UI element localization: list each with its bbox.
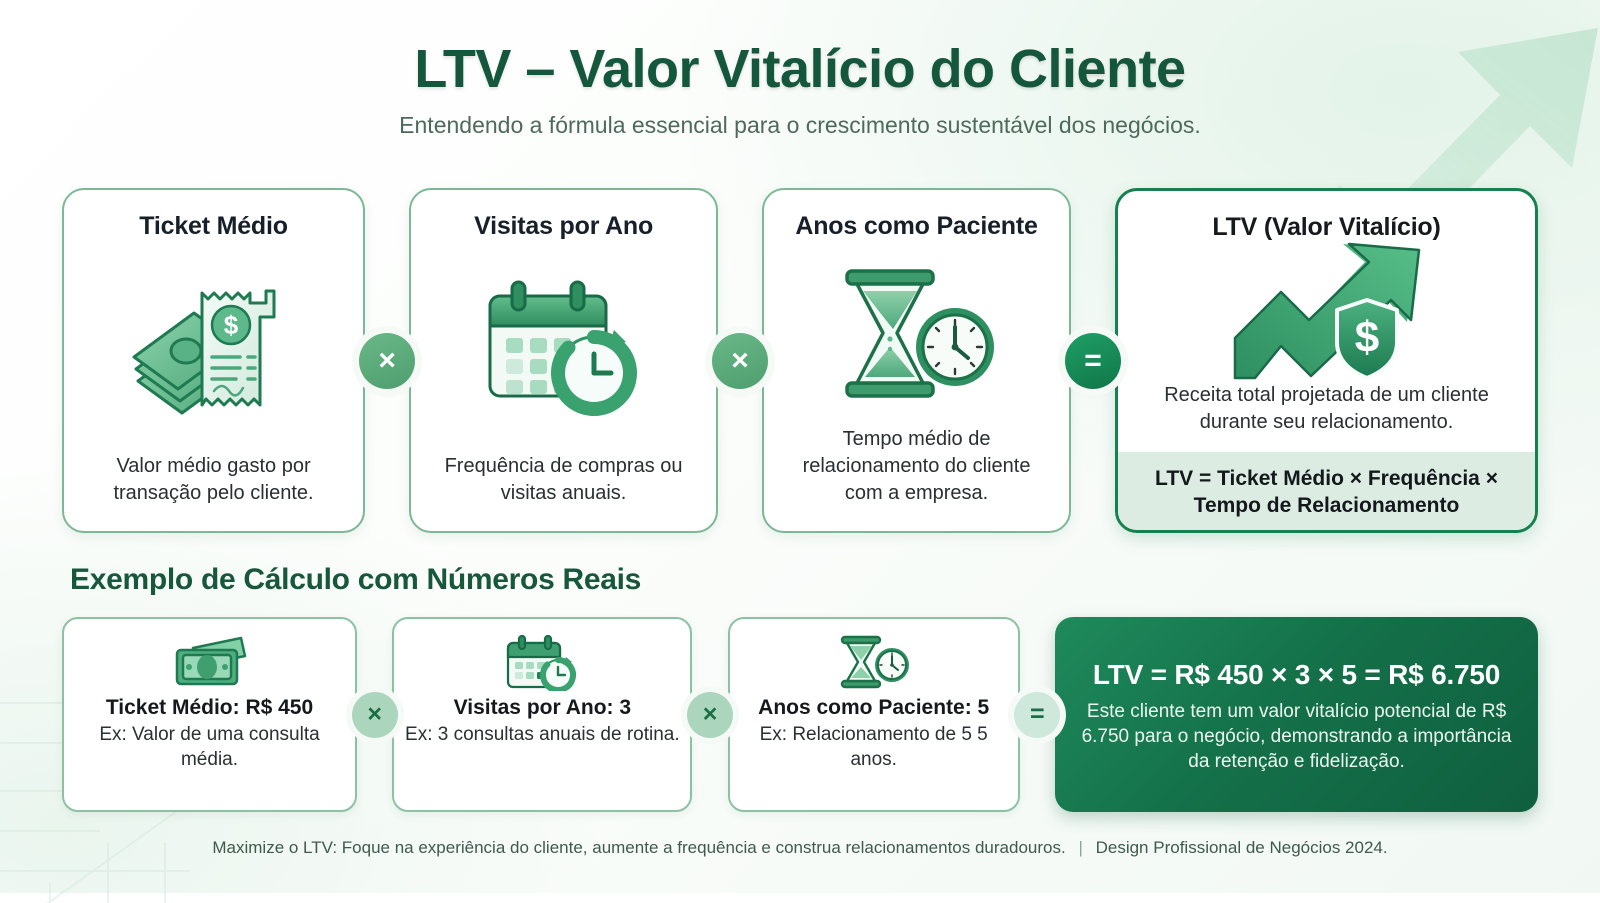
formula-card-title: Ticket Médio: [139, 212, 288, 241]
footer-separator: |: [1070, 838, 1090, 857]
calendar-clock-icon: [425, 241, 702, 453]
formula-card-anos-como-paciente[interactable]: Anos como Paciente: [762, 188, 1071, 533]
example-card-title: Visitas por Ano: 3: [454, 695, 631, 720]
operator-equals-1: =: [1065, 333, 1121, 389]
calendar-clock-icon: [502, 633, 582, 691]
formula-card-title: Anos como Paciente: [795, 212, 1037, 241]
operator-times-1: ×: [359, 333, 415, 389]
operator-times-3: ×: [352, 692, 398, 738]
operator-times-4: ×: [687, 692, 733, 738]
hourglass-clock-icon: [778, 241, 1055, 426]
header: LTV – Valor Vitalício do Cliente Entende…: [0, 0, 1600, 139]
example-card-visitas-por-ano[interactable]: Visitas por Ano: 3 Ex: 3 consultas anuai…: [392, 617, 692, 812]
page-title: LTV – Valor Vitalício do Cliente: [0, 40, 1600, 98]
example-card-description: Ex: Relacionamento de 5 5 anos.: [740, 723, 1008, 772]
money-receipt-icon: $: [78, 241, 349, 453]
growth-arrow-shield-icon: $: [1134, 242, 1519, 382]
svg-text:$: $: [223, 310, 238, 340]
example-card-title: Anos como Paciente: 5: [758, 695, 989, 720]
example-card-ticket-medio[interactable]: Ticket Médio: R$ 450 Ex: Valor de uma co…: [62, 617, 357, 812]
hourglass-clock-icon: [834, 633, 914, 691]
result-formula: LTV = R$ 450 × 3 × 5 = R$ 6.750: [1093, 659, 1500, 691]
example-card-title: Ticket Médio: R$ 450: [106, 695, 313, 720]
example-result-box[interactable]: LTV = R$ 450 × 3 × 5 = R$ 6.750 Este cli…: [1055, 617, 1538, 812]
formula-card-description: Valor médio gasto por transação pelo cli…: [78, 453, 349, 513]
formula-card-description: Frequência de compras ou visitas anuais.: [425, 453, 702, 513]
formula-card-ltv[interactable]: LTV (Valor Vitalício) $: [1115, 188, 1538, 533]
money-bills-icon: [171, 633, 249, 691]
operator-equals-2: =: [1014, 692, 1060, 738]
formula-row: Ticket Médio: [62, 188, 1538, 533]
svg-text:$: $: [1355, 313, 1379, 362]
example-section-heading: Exemplo de Cálculo com Números Reais: [70, 563, 641, 597]
formula-card-description: Tempo médio de relacionamento do cliente…: [778, 426, 1055, 513]
example-card-anos-como-paciente[interactable]: Anos como Paciente: 5 Ex: Relacionamento…: [728, 617, 1020, 812]
operator-times-2: ×: [712, 333, 768, 389]
footer: Maximize o LTV: Foque na experiência do …: [0, 838, 1600, 858]
footer-credit: Design Profissional de Negócios 2024.: [1096, 838, 1388, 857]
formula-card-description: Receita total projetada de um cliente du…: [1134, 382, 1519, 442]
footer-tip: Maximize o LTV: Foque na experiência do …: [212, 838, 1065, 857]
example-card-description: Ex: 3 consultas anuais de rotina.: [405, 723, 680, 748]
formula-card-title: LTV (Valor Vitalício): [1212, 213, 1440, 242]
infographic-root: LTV – Valor Vitalício do Cliente Entende…: [0, 0, 1600, 893]
formula-card-title: Visitas por Ano: [474, 212, 653, 241]
formula-card-ticket-medio[interactable]: Ticket Médio: [62, 188, 365, 533]
example-row: Ticket Médio: R$ 450 Ex: Valor de uma co…: [62, 617, 1538, 812]
ltv-formula-strip: LTV = Ticket Médio × Frequência × Tempo …: [1118, 452, 1535, 533]
page-subtitle: Entendendo a fórmula essencial para o cr…: [0, 112, 1600, 139]
example-card-description: Ex: Valor de uma consulta média.: [74, 723, 345, 772]
result-description: Este cliente tem um valor vitalício pote…: [1077, 699, 1516, 774]
formula-card-visitas-por-ano[interactable]: Visitas por Ano: [409, 188, 718, 533]
